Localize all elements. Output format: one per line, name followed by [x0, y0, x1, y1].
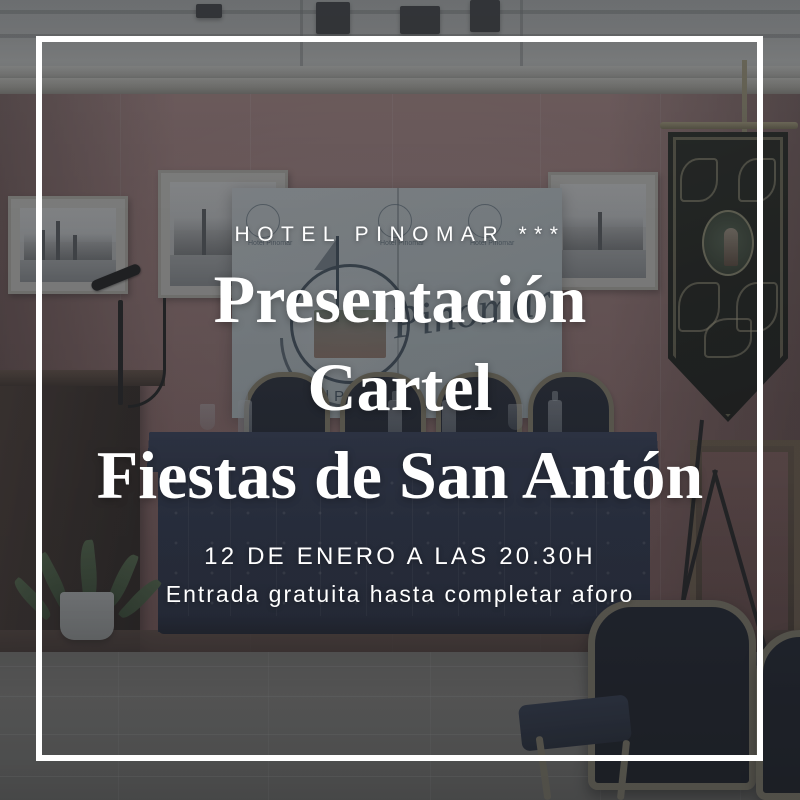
poster-kicker: HOTEL PINOMAR ***	[235, 224, 566, 245]
poster-title-line-3: Fiestas de San Antón	[97, 443, 703, 509]
poster-title-line-1: Presentación	[214, 267, 587, 333]
poster-subtitle: Entrada gratuita hasta completar aforo	[166, 581, 635, 608]
poster-canvas: Hotel Pinomar Hotel Pinomar Hotel Pinoma…	[0, 0, 800, 800]
poster-text-block: HOTEL PINOMAR *** Presentación Cartel Fi…	[0, 0, 800, 800]
poster-title-line-2: Cartel	[307, 355, 492, 421]
poster-date: 12 DE ENERO A LAS 20.30H	[204, 543, 596, 571]
